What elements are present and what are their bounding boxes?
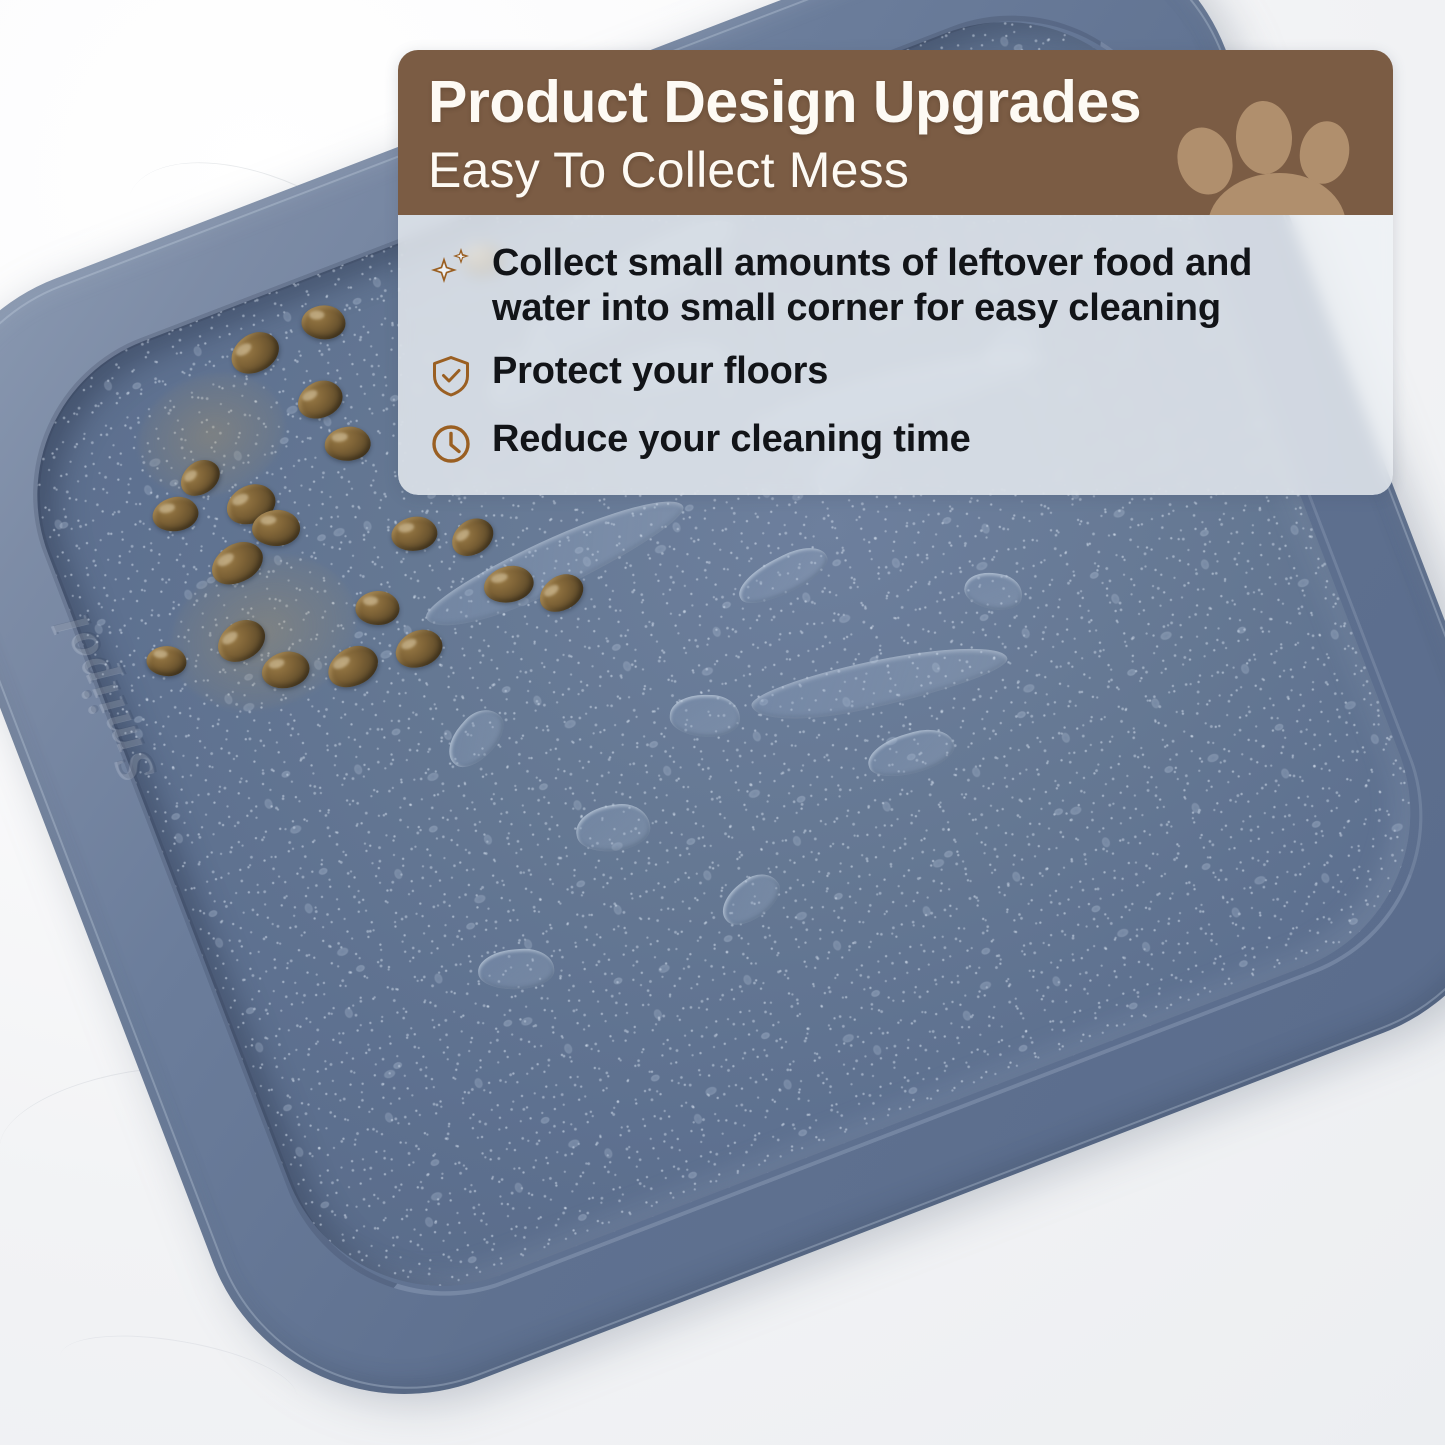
card-header: Product Design Upgrades Easy To Collect … <box>398 50 1393 215</box>
feature-item-protect: Protect your floors <box>428 349 1365 399</box>
water-blob <box>669 694 740 737</box>
clock-icon <box>428 421 474 467</box>
feature-item-reduce: Reduce your cleaning time <box>428 417 1365 467</box>
feature-text-collect: Collect small amounts of leftover food a… <box>492 241 1252 331</box>
kibble-piece <box>301 305 346 340</box>
product-feature-image: Smiipol <box>0 0 1445 1445</box>
page-title: Product Design Upgrades <box>428 72 1363 133</box>
sparkles-icon <box>428 245 474 291</box>
feature-text-reduce: Reduce your cleaning time <box>492 417 971 462</box>
feature-card: Product Design Upgrades Easy To Collect … <box>398 50 1393 495</box>
shield-check-icon <box>428 353 474 399</box>
feature-item-collect: Collect small amounts of leftover food a… <box>428 241 1365 331</box>
kibble-piece <box>146 646 187 677</box>
feature-list: Collect small amounts of leftover food a… <box>398 215 1393 495</box>
feature-text-protect: Protect your floors <box>492 349 828 394</box>
page-subtitle: Easy To Collect Mess <box>428 143 1363 197</box>
